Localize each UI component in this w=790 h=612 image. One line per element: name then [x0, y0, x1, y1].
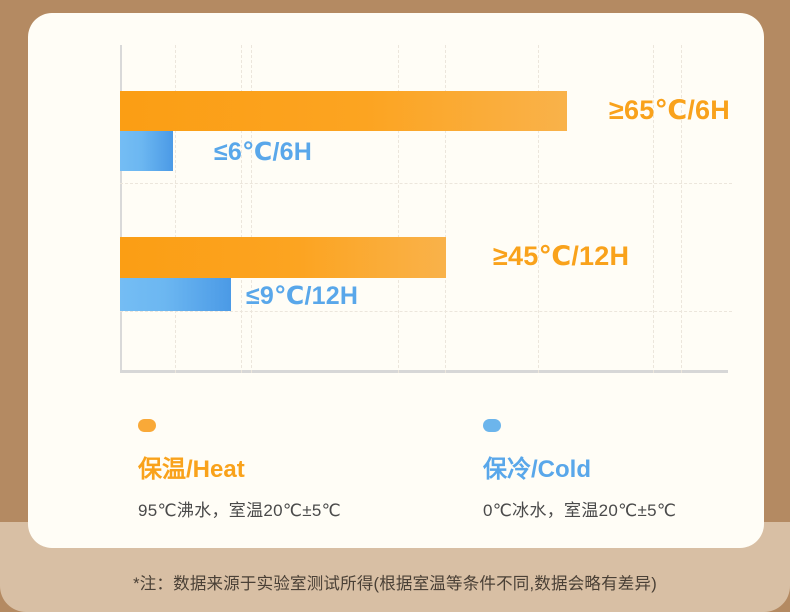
bar-label-heat-12h: ≥45℃/12H — [493, 241, 629, 272]
legend-dot-heat-icon — [138, 419, 156, 432]
legend-item-heat: 保温/Heat 95℃沸水，室温20℃±5℃ — [138, 419, 483, 521]
temperature-retention-chart: ≥65℃/6H ≤6℃/6H ≥45℃/12H ≤9℃/12H — [92, 45, 760, 375]
legend-subtitle-heat: 95℃沸水，室温20℃±5℃ — [138, 496, 483, 521]
legend-title-heat: 保温/Heat — [138, 449, 483, 484]
footnote-text: *注：数据来源于实验室测试所得(根据室温等条件不同,数据会略有差异) — [0, 570, 790, 594]
horizontal-gridline — [120, 311, 732, 312]
chart-plot-area: ≥65℃/6H ≤6℃/6H ≥45℃/12H ≤9℃/12H — [120, 45, 732, 373]
chart-legend: 保温/Heat 95℃沸水，室温20℃±5℃ 保冷/Cold 0℃冰水，室温20… — [138, 419, 758, 521]
stats-card: ≥65℃/6H ≤6℃/6H ≥45℃/12H ≤9℃/12H 保温/Heat … — [28, 13, 764, 548]
bar-heat-6h[interactable] — [120, 91, 567, 131]
horizontal-gridline — [120, 183, 732, 184]
legend-item-cold: 保冷/Cold 0℃冰水，室温20℃±5℃ — [483, 419, 676, 521]
legend-subtitle-cold: 0℃冰水，室温20℃±5℃ — [483, 496, 676, 521]
x-axis-line — [120, 370, 728, 373]
bar-heat-12h[interactable] — [120, 237, 446, 278]
legend-dot-cold-icon — [483, 419, 501, 432]
bar-cold-6h[interactable] — [120, 131, 173, 171]
bar-cold-12h[interactable] — [120, 278, 231, 311]
bar-label-cold-6h: ≤6℃/6H — [214, 137, 312, 167]
bar-label-cold-12h: ≤9℃/12H — [246, 281, 358, 311]
legend-title-cold: 保冷/Cold — [483, 449, 676, 484]
bar-label-heat-6h: ≥65℃/6H — [609, 95, 730, 126]
